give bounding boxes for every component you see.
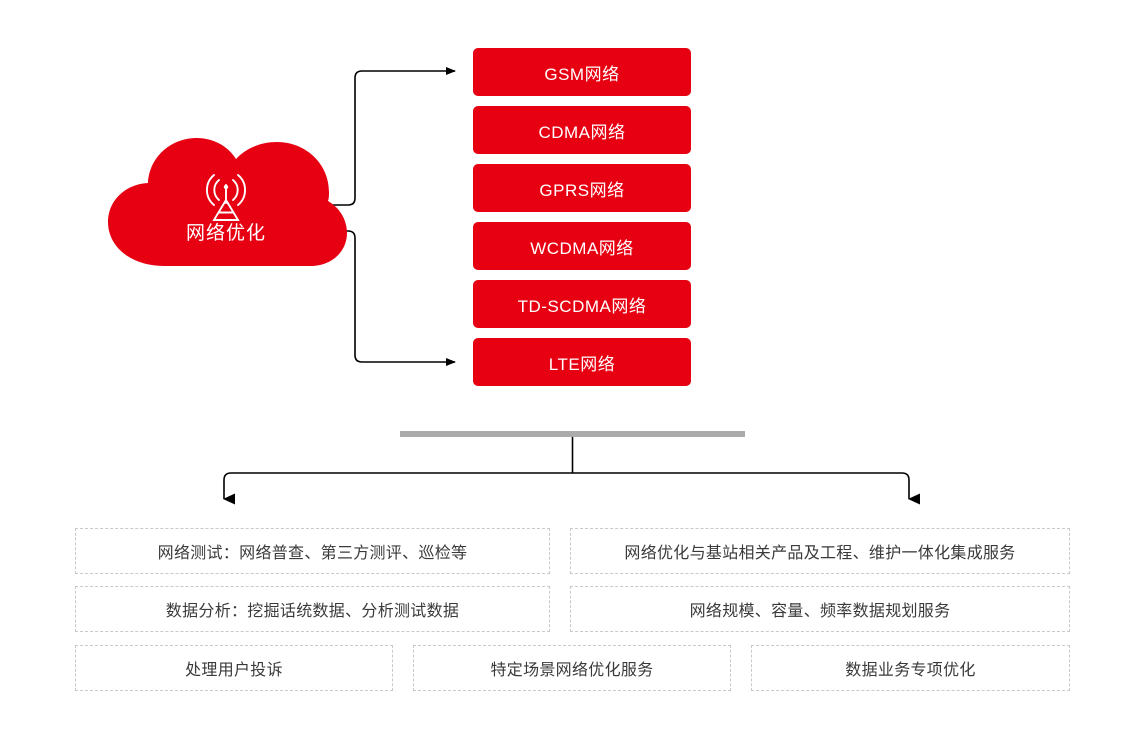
service-box-data-analysis[interactable]: 数据分析：挖掘话统数据、分析测试数据 (75, 586, 550, 632)
diagram-canvas: 网络优化 GSM网络 CDMA网络 GPRS网络 WCDMA网络 TD-SCDM… (0, 0, 1145, 735)
network-box-wcdma[interactable]: WCDMA网络 (473, 222, 691, 270)
root-node-cloud[interactable]: 网络优化 (100, 128, 352, 276)
network-box-td-scdma[interactable]: TD-SCDMA网络 (473, 280, 691, 328)
service-box-user-complaints[interactable]: 处理用户投诉 (75, 645, 393, 691)
connector-branch-left (224, 473, 573, 499)
service-box-network-planning[interactable]: 网络规模、容量、频率数据规划服务 (570, 586, 1070, 632)
network-box-gprs[interactable]: GPRS网络 (473, 164, 691, 212)
network-box-gsm[interactable]: GSM网络 (473, 48, 691, 96)
connector-branch-right (573, 473, 910, 499)
network-box-lte[interactable]: LTE网络 (473, 338, 691, 386)
service-box-data-service-optimization[interactable]: 数据业务专项优化 (751, 645, 1070, 691)
service-box-scenario-optimization[interactable]: 特定场景网络优化服务 (413, 645, 731, 691)
root-node-label: 网络优化 (100, 224, 352, 243)
network-box-cdma[interactable]: CDMA网络 (473, 106, 691, 154)
section-divider-bar (400, 431, 745, 437)
service-box-optimization-integration[interactable]: 网络优化与基站相关产品及工程、维护一体化集成服务 (570, 528, 1070, 574)
service-box-network-testing[interactable]: 网络测试：网络普查、第三方测评、巡检等 (75, 528, 550, 574)
broadcast-tower-icon (198, 172, 254, 224)
